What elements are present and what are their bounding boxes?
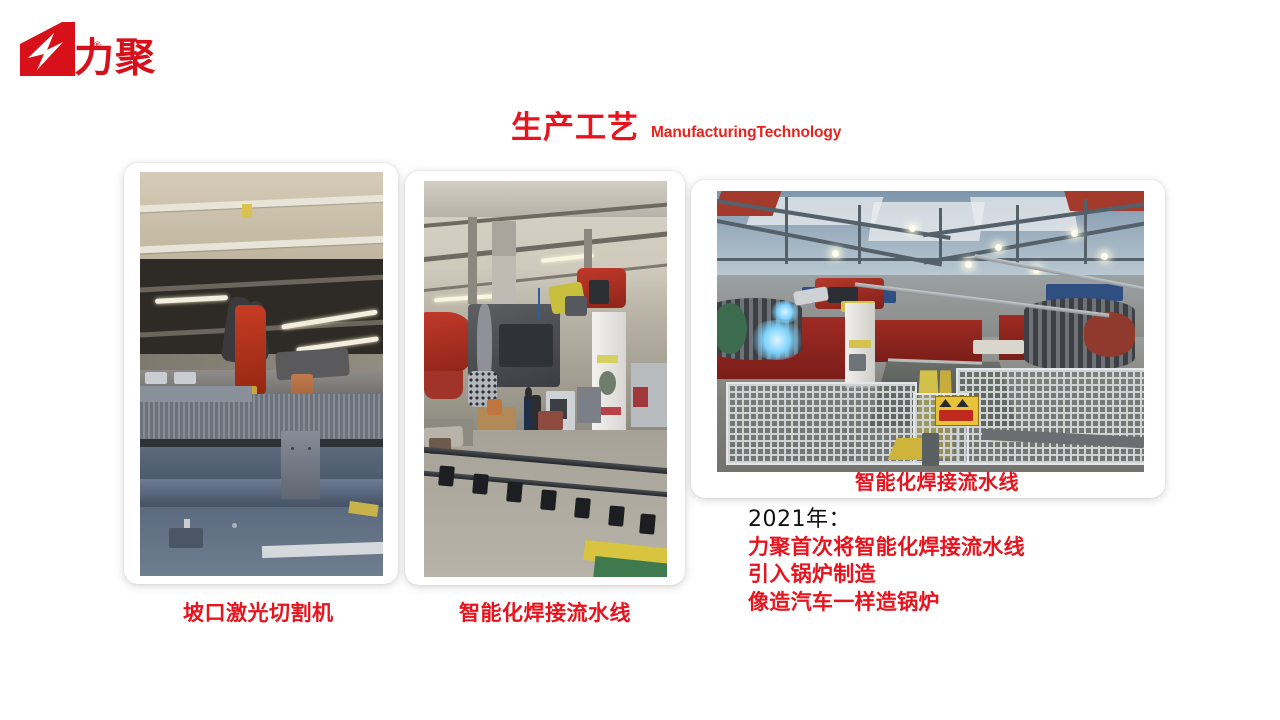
description-line-3: 像造汽车一样造锅炉 [748, 589, 1168, 616]
card-3-caption: 智能化焊接流水线 [855, 466, 1019, 495]
card-2-caption: 智能化焊接流水线 [459, 597, 631, 627]
photo-welding-line-panorama [717, 191, 1144, 472]
page-title-en: ManufacturingTechnology [651, 124, 841, 141]
photo-bevel-laser-cutter [140, 172, 383, 576]
description-line-2: 引入锅炉制造 [748, 561, 1168, 588]
brand-logo: ® 力聚 [18, 20, 188, 82]
brand-name: 力聚 [74, 38, 156, 78]
photo-card-1[interactable] [124, 163, 398, 584]
description-year: 2021年： [748, 506, 1168, 534]
photo-card-3[interactable]: 智能化焊接流水线 [691, 180, 1165, 498]
description-block: 2021年： 力聚首次将智能化焊接流水线 引入锅炉制造 像造汽车一样造锅炉 [748, 506, 1168, 616]
page-title-cn: 生产工艺 [511, 112, 639, 145]
page-title: 生产工艺 ManufacturingTechnology [511, 112, 841, 145]
photo-card-2[interactable] [405, 171, 685, 585]
card-1-caption: 坡口激光切割机 [183, 597, 334, 627]
description-line-1: 力聚首次将智能化焊接流水线 [748, 534, 1168, 561]
photo-welding-line-drum [424, 181, 667, 577]
